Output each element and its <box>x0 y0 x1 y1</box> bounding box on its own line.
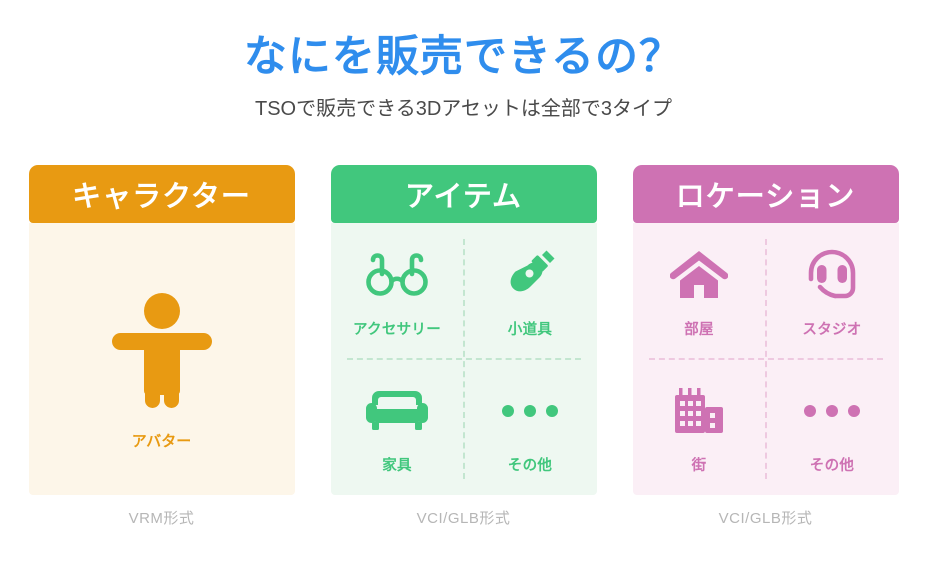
card-item-label-other: その他 <box>508 454 552 475</box>
card-location-body: 部屋 スタジオ <box>633 223 899 495</box>
card-location-cell-other: その他 <box>766 359 899 495</box>
glasses-icon <box>365 244 429 306</box>
card-location-label-other: その他 <box>810 454 854 475</box>
card-location-label-city: 街 <box>692 454 707 475</box>
card-item-footer: VCI/GLB形式 <box>331 495 597 540</box>
card-character: キャラクター アバター VRM形式 <box>29 165 295 540</box>
card-character-footer: VRM形式 <box>29 495 295 540</box>
card-character-header: キャラクター <box>29 165 295 223</box>
card-location-cell-studio: スタジオ <box>766 223 899 359</box>
card-item: アイテム アクセサリ <box>331 165 597 540</box>
city-icon <box>671 380 727 442</box>
card-location-cell-room: 部屋 <box>633 223 766 359</box>
page-title: なにを販売できるの？ <box>0 22 927 84</box>
card-item-header: アイテム <box>331 165 597 223</box>
card-row: キャラクター アバター VRM形式 アイテム <box>0 165 927 540</box>
card-item-body: アクセサリー 小道具 <box>331 223 597 495</box>
card-location-header: ロケーション <box>633 165 899 223</box>
card-item-label-accessory: アクセサリー <box>353 318 441 339</box>
avatar-icon <box>107 268 217 408</box>
card-item-cell-other: その他 <box>464 359 597 495</box>
guitar-icon <box>502 244 558 306</box>
house-icon <box>670 244 728 306</box>
page-subtitle: TSOで販売できる3Dアセットは全部で3タイプ <box>0 92 927 121</box>
card-location: ロケーション 部屋 <box>633 165 899 540</box>
card-character-body: アバター <box>29 223 295 495</box>
card-location-label-studio: スタジオ <box>802 318 861 339</box>
infographic-page: なにを販売できるの？ TSOで販売できる3Dアセットは全部で3タイプ キャラクタ… <box>0 0 927 581</box>
ellipsis-icon <box>803 380 861 442</box>
ellipsis-icon <box>501 380 559 442</box>
card-item-cell-furniture: 家具 <box>331 359 464 495</box>
card-character-item-label: アバター <box>132 430 191 451</box>
headset-icon <box>806 244 858 306</box>
card-item-label-furniture: 家具 <box>382 454 412 475</box>
card-location-cell-city: 街 <box>633 359 766 495</box>
card-location-label-room: 部屋 <box>684 318 714 339</box>
sofa-icon <box>366 380 428 442</box>
card-location-footer: VCI/GLB形式 <box>633 495 899 540</box>
card-item-cell-accessory: アクセサリー <box>331 223 464 359</box>
card-item-cell-prop: 小道具 <box>464 223 597 359</box>
card-item-label-prop: 小道具 <box>508 318 552 339</box>
